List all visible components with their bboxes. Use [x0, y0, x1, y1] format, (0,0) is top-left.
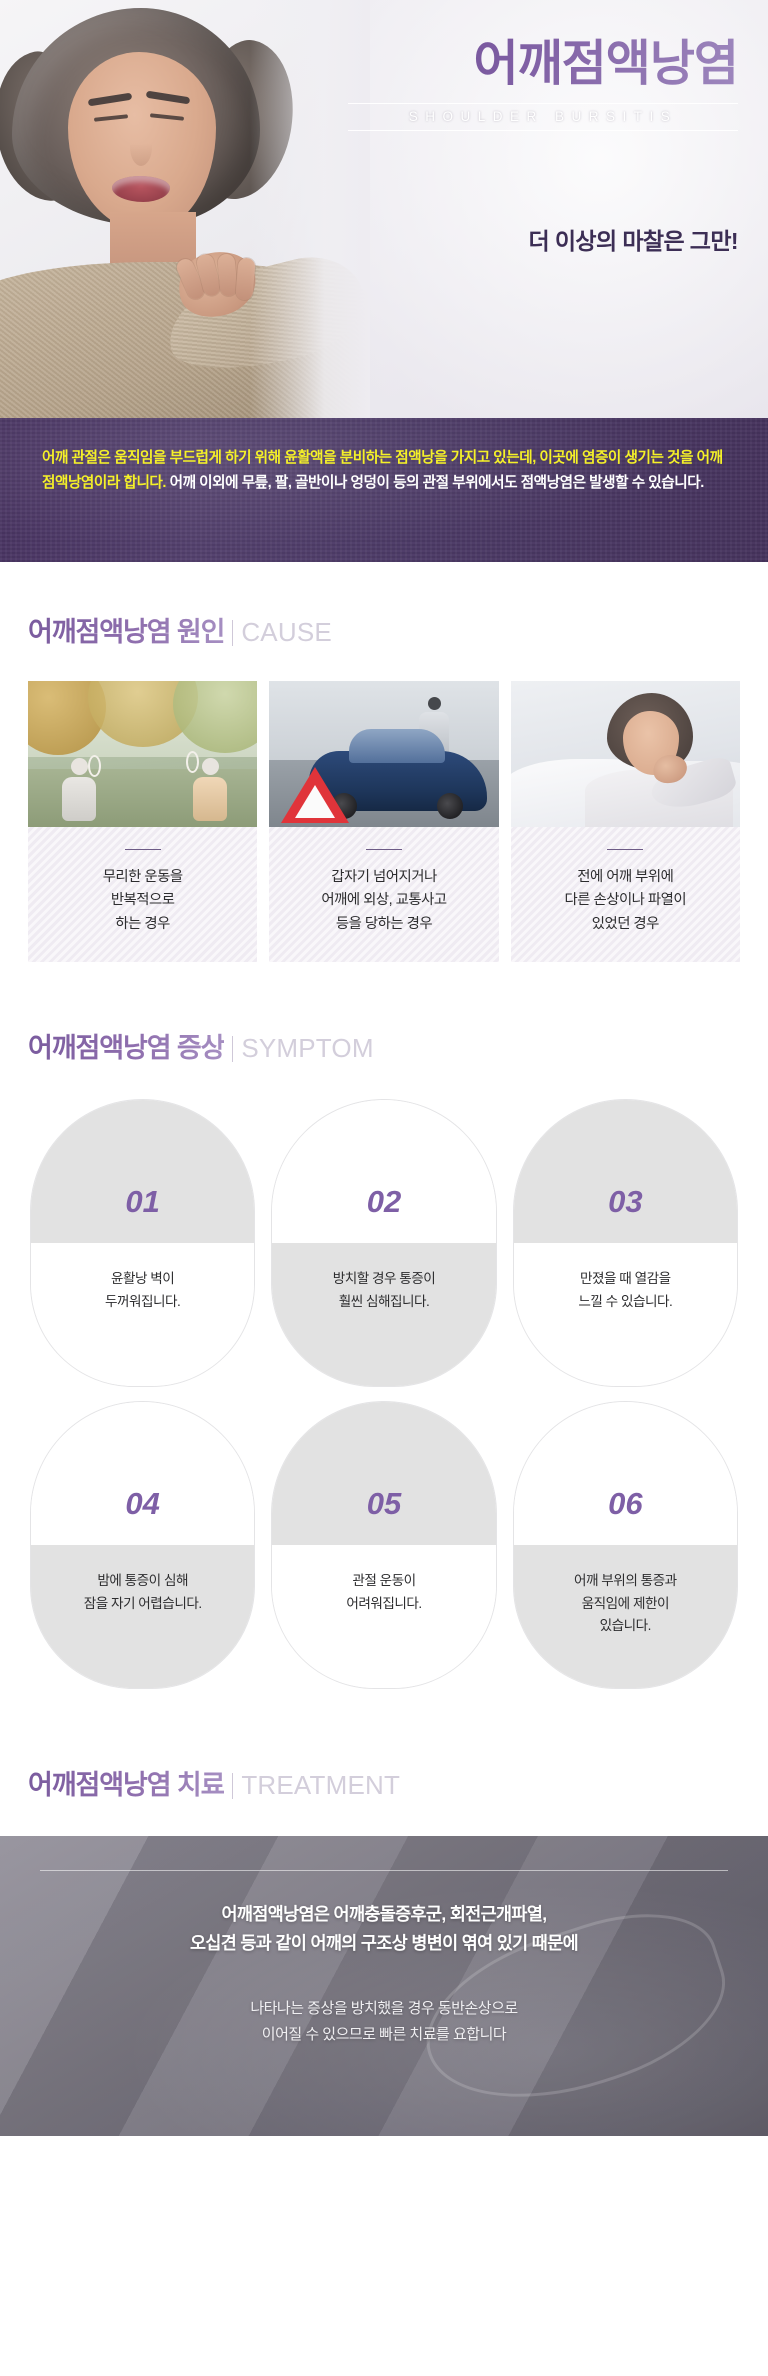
- cause-card-1-text: 무리한 운동을 반복적으로 하는 경우: [38, 866, 247, 936]
- treatment-footer-banner: 어깨점액낭염은 어깨충돌증후군, 회전근개파열, 오십견 등과 같이 어깨의 구…: [0, 1836, 768, 2136]
- text-line: 움직임에 제한이: [528, 1593, 723, 1616]
- infographic-page: 어깨점액낭염 SHOULDER BURSITIS 더 이상의 마찰은 그만! 어…: [0, 0, 768, 2376]
- heading-divider: [232, 620, 233, 646]
- banner-line3-plain: 관절 부위에서도 점액낭염은 발생할 수 있습니다.: [423, 475, 704, 491]
- symptom-card-06[interactable]: 06 어깨 부위의 통증과 움직임에 제한이 있습니다.: [513, 1401, 738, 1689]
- text-line: 잠을 자기 어렵습니다.: [45, 1593, 240, 1616]
- cause-card-1-body: 무리한 운동을 반복적으로 하는 경우: [28, 827, 257, 962]
- symptom-text-03: 만졌을 때 열감을 느낄 수 있습니다.: [528, 1268, 723, 1313]
- card-bottom-half: [31, 1243, 254, 1386]
- text-line: 다른 손상이나 파열이: [521, 889, 730, 912]
- card-top-half: [31, 1402, 254, 1545]
- text-line: 훨씬 심해집니다.: [286, 1291, 481, 1314]
- card-top-half: [31, 1100, 254, 1243]
- symptom-number-01: 01: [31, 1184, 254, 1220]
- symptom-text-04: 밤에 통증이 심해 잠을 자기 어렵습니다.: [45, 1570, 240, 1615]
- text-line: 관절 운동이: [286, 1570, 481, 1593]
- text-line: 윤활낭 벽이: [45, 1268, 240, 1291]
- treatment-heading-ko: 어깨점액낭염 치료: [28, 1763, 224, 1802]
- text-line: 반복적으로: [38, 889, 247, 912]
- symptom-card-grid: 01 윤활낭 벽이 두꺼워집니다. 02 방치할 경우 통증이 훨씬 심해집니다…: [0, 1065, 768, 1689]
- symptom-number-05: 05: [272, 1486, 495, 1522]
- treatment-section: 어깨점액낭염 치료 TREATMENT 어깨점액낭염은 어깨충돌증후군, 회전근…: [0, 1689, 768, 2136]
- intro-banner-text: 어깨 관절은 움직임을 부드럽게 하기 위해 윤활액을 분비하는 점액낭을 가지…: [42, 446, 728, 496]
- symptom-text-02: 방치할 경우 통증이 훨씬 심해집니다.: [286, 1268, 481, 1313]
- cause-section: 어깨점액낭염 원인 CAUSE: [0, 562, 768, 962]
- cause-card-2-body: 갑자기 넘어지거나 어깨에 외상, 교통사고 등을 당하는 경우: [269, 827, 498, 962]
- symptom-number-04: 04: [31, 1486, 254, 1522]
- racket-left: [88, 755, 101, 777]
- symptom-text-06: 어깨 부위의 통증과 움직임에 제한이 있습니다.: [528, 1570, 723, 1638]
- symptom-heading-en: SYMPTOM: [241, 1033, 373, 1065]
- heading-divider: [232, 1036, 233, 1062]
- badminton-seniors-photo: [28, 681, 257, 827]
- text-line: 어깨 부위의 통증과: [528, 1570, 723, 1593]
- text-line: 두꺼워집니다.: [45, 1291, 240, 1314]
- warning-triangle-icon: [281, 767, 349, 823]
- text-line: 어깨에 외상, 교통사고: [279, 889, 488, 912]
- cause-card-3[interactable]: 전에 어깨 부위에 다른 손상이나 파열이 있었던 경우: [511, 681, 740, 962]
- text-line: 어깨점액낭염은 어깨충돌증후군, 회전근개파열,: [40, 1900, 728, 1929]
- hero-subtitle-en: SHOULDER BURSITIS: [350, 109, 736, 124]
- symptom-card-02[interactable]: 02 방치할 경우 통증이 훨씬 심해집니다.: [271, 1099, 496, 1387]
- card-top-half: [514, 1100, 737, 1243]
- symptom-card-04[interactable]: 04 밤에 통증이 심해 잠을 자기 어렵습니다.: [30, 1401, 255, 1689]
- symptom-section: 어깨점액낭염 증상 SYMPTOM 01 윤활낭 벽이 두꺼워집니다. 02 방…: [0, 962, 768, 1689]
- cause-card-2-text: 갑자기 넘어지거나 어깨에 외상, 교통사고 등을 당하는 경우: [279, 866, 488, 936]
- symptom-card-05[interactable]: 05 관절 운동이 어려워집니다.: [271, 1401, 496, 1689]
- text-line: 갑자기 넘어지거나: [279, 866, 488, 889]
- cause-card-3-text: 전에 어깨 부위에 다른 손상이나 파열이 있었던 경우: [521, 866, 730, 936]
- cause-card-1[interactable]: 무리한 운동을 반복적으로 하는 경우: [28, 681, 257, 962]
- symptom-number-02: 02: [272, 1184, 495, 1220]
- finger-3: [217, 253, 238, 296]
- senior-figure-right: [193, 758, 227, 821]
- card-bottom-half: [272, 1243, 495, 1386]
- treatment-heading: 어깨점액낭염 치료 TREATMENT: [0, 1763, 768, 1802]
- text-line: 있었던 경우: [521, 913, 730, 936]
- heading-divider: [232, 1773, 233, 1799]
- hero-section: 어깨점액낭염 SHOULDER BURSITIS 더 이상의 마찰은 그만!: [0, 0, 768, 418]
- card-rule: [125, 849, 161, 850]
- symptom-number-03: 03: [514, 1184, 737, 1220]
- cause-card-3-body: 전에 어깨 부위에 다른 손상이나 파열이 있었던 경우: [511, 827, 740, 962]
- hero-title-block: 어깨점액낭염 SHOULDER BURSITIS: [348, 38, 738, 131]
- footer-sub-text: 나타나는 증상을 방치했을 경우 동반손상으로 이어질 수 있으므로 빠른 치료…: [40, 1996, 728, 2048]
- symptom-text-05: 관절 운동이 어려워집니다.: [286, 1570, 481, 1615]
- text-line: 있습니다.: [528, 1615, 723, 1638]
- text-line: 전에 어깨 부위에: [521, 866, 730, 889]
- text-line: 방치할 경우 통증이: [286, 1268, 481, 1291]
- text-line: 등을 당하는 경우: [279, 913, 488, 936]
- treatment-heading-en: TREATMENT: [241, 1770, 400, 1802]
- card-rule: [607, 849, 643, 850]
- cause-card-grid: 무리한 운동을 반복적으로 하는 경우: [0, 649, 768, 962]
- banner-line1: 어깨 관절은 움직임을 부드럽게 하기 위해 윤활액을 분비하는 점액낭을 가지…: [42, 450, 578, 466]
- symptom-number-06: 06: [514, 1486, 737, 1522]
- footer-divider: [40, 1870, 728, 1871]
- card-bottom-half: [272, 1545, 495, 1688]
- text-line: 이어질 수 있으므로 빠른 치료를 요합니다: [40, 2022, 728, 2048]
- hero-shoulder-pain-photo: [0, 0, 370, 418]
- text-line: 나타나는 증상을 방치했을 경우 동반손상으로: [40, 1996, 728, 2022]
- card-top-half: [514, 1402, 737, 1545]
- text-line: 무리한 운동을: [38, 866, 247, 889]
- banner-line2-plain: 어깨 이외에 무릎, 팔, 골반이나 엉덩이 등의: [170, 475, 419, 491]
- text-line: 느낄 수 있습니다.: [528, 1291, 723, 1314]
- hero-subtitle-rule: SHOULDER BURSITIS: [348, 103, 738, 131]
- cause-heading-ko: 어깨점액낭염 원인: [28, 610, 224, 649]
- cause-card-2[interactable]: 갑자기 넘어지거나 어깨에 외상, 교통사고 등을 당하는 경우: [269, 681, 498, 962]
- hero-title: 어깨점액낭염: [348, 38, 738, 91]
- nose: [130, 128, 152, 166]
- car-accident-photo: [269, 681, 498, 827]
- text-line: 만졌을 때 열감을: [528, 1268, 723, 1291]
- symptom-heading-ko: 어깨점액낭염 증상: [28, 1026, 224, 1065]
- symptom-heading: 어깨점액낭염 증상 SYMPTOM: [0, 1026, 768, 1065]
- text-line: 어려워집니다.: [286, 1593, 481, 1616]
- cause-heading: 어깨점액낭염 원인 CAUSE: [0, 610, 768, 649]
- symptom-card-01[interactable]: 01 윤활낭 벽이 두꺼워집니다.: [30, 1099, 255, 1387]
- text-line: 하는 경우: [38, 913, 247, 936]
- text-line: 밤에 통증이 심해: [45, 1570, 240, 1593]
- card-bottom-half: [31, 1545, 254, 1688]
- card-rule: [366, 849, 402, 850]
- cause-heading-en: CAUSE: [241, 617, 332, 649]
- footer-strong-text: 어깨점액낭염은 어깨충돌증후군, 회전근개파열, 오십견 등과 같이 어깨의 구…: [40, 1900, 728, 1957]
- card-top-half: [272, 1402, 495, 1545]
- symptom-text-01: 윤활낭 벽이 두꺼워집니다.: [45, 1268, 240, 1313]
- text-line: 오십견 등과 같이 어깨의 구조상 병변이 엮여 있기 때문에: [40, 1929, 728, 1958]
- intro-banner: 어깨 관절은 움직임을 부드럽게 하기 위해 윤활액을 분비하는 점액낭을 가지…: [0, 418, 768, 562]
- card-bottom-half: [514, 1243, 737, 1386]
- hero-tagline: 더 이상의 마찰은 그만!: [529, 222, 738, 256]
- symptom-card-03[interactable]: 03 만졌을 때 열감을 느낄 수 있습니다.: [513, 1099, 738, 1387]
- woman-shoulder-pain-bed-photo: [511, 681, 740, 827]
- card-top-half: [272, 1100, 495, 1243]
